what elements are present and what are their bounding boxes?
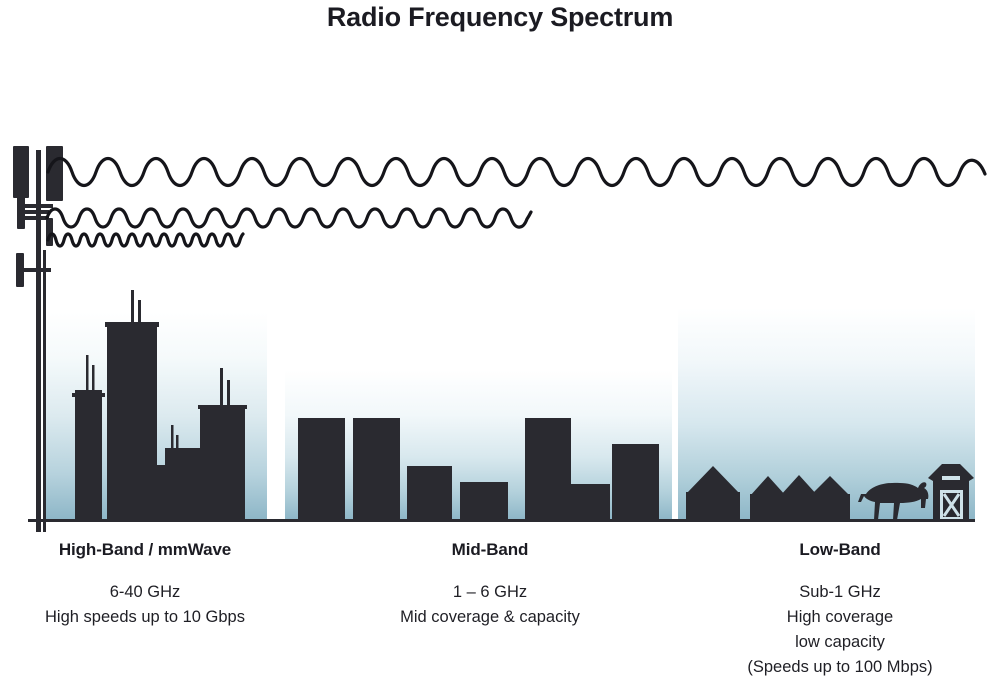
house-icon <box>686 466 740 520</box>
midrise-icon <box>570 484 610 520</box>
band-desc-line: 1 – 6 GHz <box>355 580 625 605</box>
band-desc-low-band: Sub-1 GHz High coverage low capacity (Sp… <box>705 580 975 680</box>
skyscraper-icon <box>75 390 102 520</box>
band-desc-mid-band: 1 – 6 GHz Mid coverage & capacity <box>355 580 625 630</box>
band-title-high-band: High-Band / mmWave <box>10 540 280 560</box>
wave-low-band <box>48 159 985 186</box>
house-icon <box>810 476 850 520</box>
midrise-icon <box>407 466 452 520</box>
band-column-high-band: High-Band / mmWave 6-40 GHz High speeds … <box>10 540 280 630</box>
wave-mid-band <box>47 209 531 227</box>
scene-mid-band-city <box>285 412 675 522</box>
scene-high-band-city <box>45 280 275 530</box>
band-desc-high-band: 6-40 GHz High speeds up to 10 Gbps <box>10 580 280 630</box>
ground-line <box>28 519 975 522</box>
skyscraper-icon <box>200 405 245 520</box>
band-desc-line: Mid coverage & capacity <box>355 605 625 630</box>
band-desc-line: (Speeds up to 100 Mbps) <box>705 655 975 680</box>
band-desc-line: Sub-1 GHz <box>705 580 975 605</box>
band-labels: High-Band / mmWave 6-40 GHz High speeds … <box>0 540 1000 700</box>
midrise-icon <box>525 418 571 520</box>
midrise-icon <box>298 418 345 520</box>
band-column-low-band: Low-Band Sub-1 GHz High coverage low cap… <box>705 540 975 680</box>
band-desc-line: High coverage <box>705 605 975 630</box>
barn-icon <box>928 464 974 520</box>
wave-high-band <box>48 234 243 246</box>
spectrum-scene <box>0 0 1000 530</box>
midrise-icon <box>460 482 508 520</box>
midrise-icon <box>612 444 659 520</box>
band-title-low-band: Low-Band <box>705 540 975 560</box>
midrise-icon <box>353 418 400 520</box>
band-desc-line: low capacity <box>705 630 975 655</box>
cow-icon <box>858 482 928 520</box>
skyscraper-icon <box>107 322 157 520</box>
band-column-mid-band: Mid-Band 1 – 6 GHz Mid coverage & capaci… <box>355 540 625 630</box>
infographic-canvas: Radio Frequency Spectrum <box>0 0 1000 700</box>
band-desc-line: High speeds up to 10 Gbps <box>10 605 280 630</box>
band-desc-line: 6-40 GHz <box>10 580 280 605</box>
skyscraper-icon <box>165 448 203 520</box>
band-title-mid-band: Mid-Band <box>355 540 625 560</box>
